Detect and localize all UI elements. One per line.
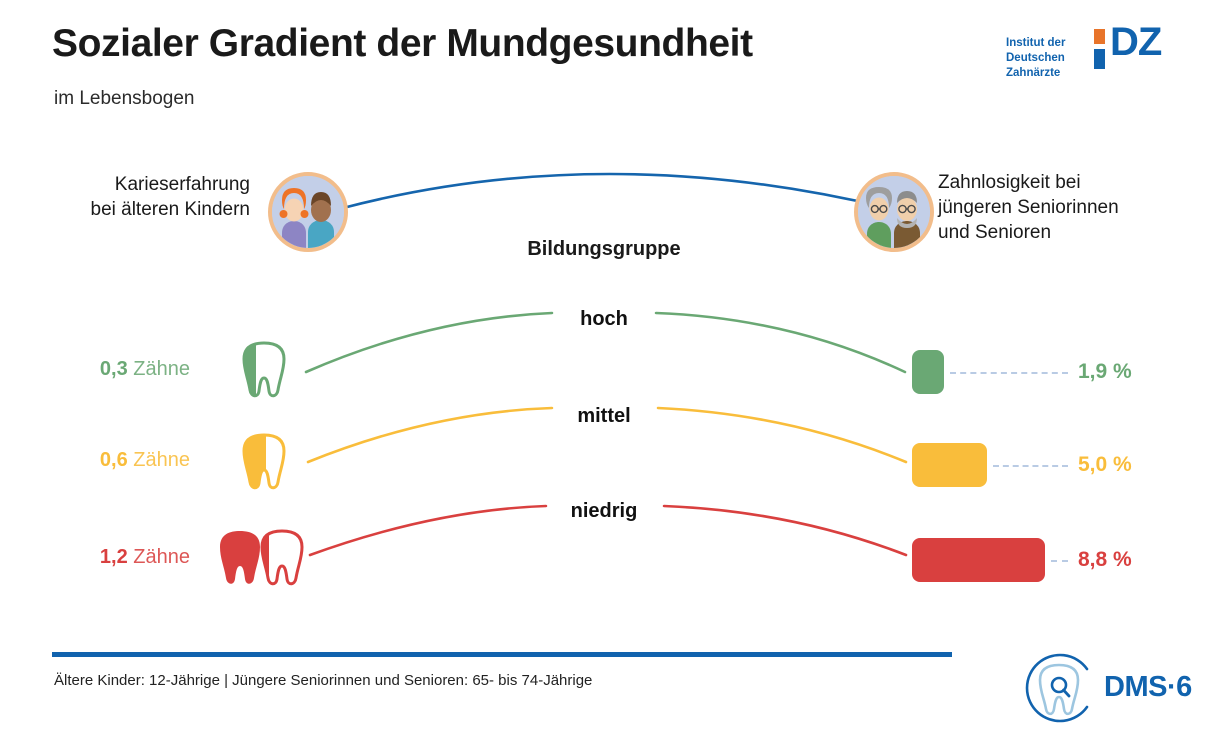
- page-subtitle: im Lebensbogen: [54, 88, 195, 110]
- group-label-mittel: mittel: [504, 405, 704, 428]
- idz-logo-i-bottom-bar-icon: [1094, 49, 1105, 69]
- right-endpoint-label: Zahnlosigkeit bei jüngeren Seniorinnen u…: [938, 170, 1198, 245]
- idz-logo-line1: Institut der: [1006, 36, 1098, 51]
- tooth-icon-group-niedrig: [218, 528, 304, 595]
- tooth-icon-group-hoch: [238, 340, 290, 407]
- footer-divider: [52, 652, 952, 657]
- teeth-value-mittel-unit: Zähne: [133, 449, 190, 471]
- teeth-value-hoch: 0,3 Zähne: [10, 358, 190, 381]
- dms6-logo: DMS·6: [1016, 645, 1181, 733]
- idz-logo-wordmark: Institut der Deutschen Zahnärzte: [1006, 36, 1098, 82]
- idz-logo: Institut der Deutschen Zahnärzte DZ: [1006, 28, 1186, 80]
- right-endpoint-label-line1: Zahnlosigkeit bei: [938, 170, 1198, 195]
- teeth-value-mittel-number: 0,6: [100, 449, 128, 471]
- infographic-page: Sozialer Gradient der Mundgesundheit im …: [0, 0, 1208, 754]
- idz-logo-line2: Deutschen Zahnärzte: [1006, 51, 1098, 81]
- left-endpoint-label: Karieserfahrung bei älteren Kindern: [0, 172, 250, 222]
- left-endpoint-label-line1: Karieserfahrung: [0, 172, 250, 197]
- tooth-magnifier-icon: [1016, 645, 1102, 731]
- tooth-icon-group-mittel: [238, 432, 290, 499]
- percent-value-mittel: 5,0 %: [1078, 453, 1132, 477]
- connector-line-mittel: [993, 465, 1068, 467]
- connector-line-hoch: [950, 372, 1068, 374]
- left-endpoint-label-line2: bei älteren Kindern: [0, 197, 250, 222]
- teeth-value-niedrig-number: 1,2: [100, 546, 128, 568]
- dms6-logo-text: DMS·6: [1104, 671, 1192, 704]
- bar-hoch: [912, 350, 944, 394]
- group-label-niedrig: niedrig: [504, 500, 704, 523]
- teeth-value-niedrig: 1,2 Zähne: [10, 546, 190, 569]
- bar-niedrig: [912, 538, 1045, 582]
- connector-line-niedrig: [1051, 560, 1068, 562]
- teeth-value-hoch-number: 0,3: [100, 358, 128, 380]
- bar-mittel: [912, 443, 987, 487]
- lifecourse-arc: [343, 174, 888, 208]
- percent-value-niedrig: 8,8 %: [1078, 548, 1132, 572]
- page-title: Sozialer Gradient der Mundgesundheit: [52, 22, 753, 66]
- percent-value-hoch: 1,9 %: [1078, 360, 1132, 384]
- idz-logo-i-top-bar-icon: [1094, 29, 1105, 44]
- section-heading: Bildungsgruppe: [0, 238, 1208, 261]
- group-label-hoch: hoch: [504, 308, 704, 331]
- right-endpoint-label-line2: jüngeren Seniorinnen: [938, 195, 1198, 220]
- teeth-value-mittel: 0,6 Zähne: [10, 449, 190, 472]
- idz-logo-dz-letters: DZ: [1110, 22, 1161, 62]
- teeth-value-niedrig-unit: Zähne: [133, 546, 190, 568]
- footer-note: Ältere Kinder: 12-Jährige | Jüngere Seni…: [54, 672, 592, 689]
- teeth-value-hoch-unit: Zähne: [133, 358, 190, 380]
